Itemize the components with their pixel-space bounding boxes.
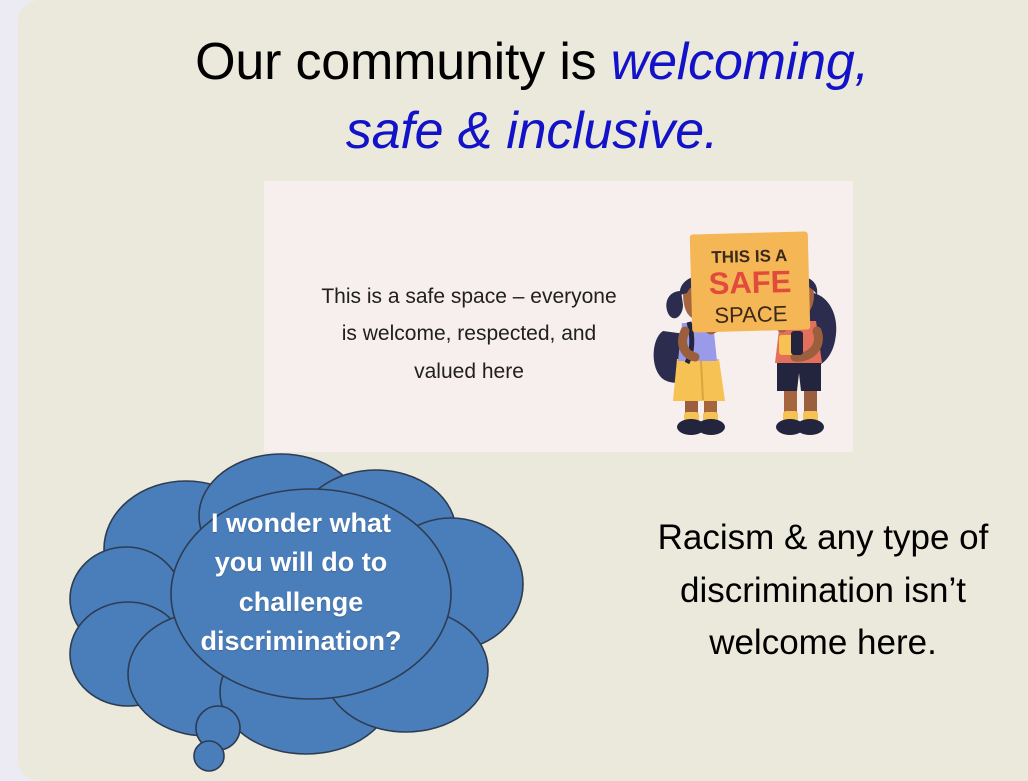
bubble-line-3: challenge <box>156 583 446 622</box>
card-caption-line-1: This is a safe space – everyone <box>321 285 616 308</box>
statement-line-3: welcome here. <box>613 617 1028 670</box>
title-accent-line2: safe & inclusive. <box>346 102 718 160</box>
title-accent-line1: welcoming, <box>611 33 869 91</box>
sign-line-3: SPACE <box>714 301 788 328</box>
bubble-line-4: discrimination? <box>156 622 446 661</box>
slide-root: Our community is welcoming, safe & inclu… <box>0 0 1028 781</box>
safe-space-image-card: This is a safe space – everyone is welco… <box>264 181 853 452</box>
safe-space-illustration: THIS IS A SAFE SPACE <box>649 223 849 438</box>
safe-space-sign: THIS IS A SAFE SPACE <box>690 231 811 332</box>
sign-line-2: SAFE <box>708 264 792 301</box>
thought-bubble: I wonder what you will do to challenge d… <box>66 444 536 774</box>
page-title: Our community is welcoming, safe & inclu… <box>78 28 986 165</box>
title-lead-text: Our community is <box>195 33 611 91</box>
statement-line-1: Racism & any type of <box>613 512 1028 565</box>
card-caption-line-3: valued here <box>414 360 524 383</box>
bubble-line-2: you will do to <box>156 543 446 582</box>
card-caption-line-2: is welcome, respected, and <box>342 322 596 345</box>
statement-text: Racism & any type of discrimination isn’… <box>613 512 1028 670</box>
thought-bubble-text: I wonder what you will do to challenge d… <box>156 504 446 662</box>
card-caption: This is a safe space – everyone is welco… <box>278 278 660 390</box>
statement-line-2: discrimination isn’t <box>613 565 1028 618</box>
slide-canvas: Our community is welcoming, safe & inclu… <box>18 0 1028 781</box>
left-gutter-strip <box>0 0 18 781</box>
bubble-line-1: I wonder what <box>156 504 446 543</box>
